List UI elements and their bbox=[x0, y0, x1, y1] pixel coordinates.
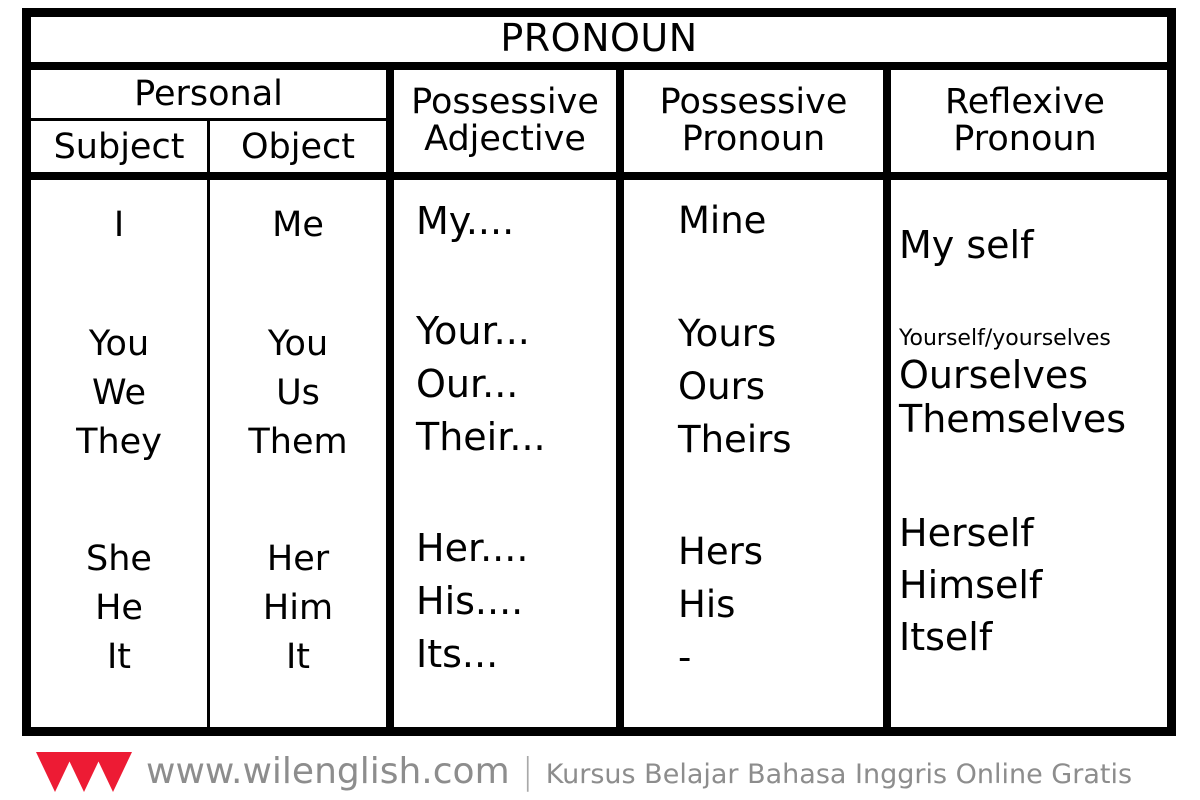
footer-site-url[interactable]: www.wilenglish.com bbox=[146, 754, 510, 790]
header-possessive-adjective-line2: Adjective bbox=[424, 121, 586, 158]
pronoun-table: PRONOUN Personal Subject Object bbox=[22, 8, 1176, 736]
cell-value: You bbox=[31, 327, 207, 362]
cell-value: His bbox=[678, 586, 883, 623]
footer-tagline: Kursus Belajar Bahasa Inggris Online Gra… bbox=[546, 761, 1132, 788]
cell-value: It bbox=[210, 640, 386, 675]
header-reflexive-pronoun-line2: Pronoun bbox=[953, 121, 1097, 158]
cell-value: Hers bbox=[678, 533, 883, 570]
footer-text: www.wilenglish.com | Kursus Belajar Baha… bbox=[146, 754, 1132, 790]
cell-value: Mine bbox=[678, 202, 883, 239]
cell-value: I bbox=[31, 208, 207, 243]
cell-value: You bbox=[210, 327, 386, 362]
header-personal: Personal bbox=[134, 74, 283, 114]
body-column-object: Me You Us Them Her Him It bbox=[207, 180, 386, 727]
cell-value: Themselves bbox=[899, 400, 1159, 438]
header-object-cell: Object bbox=[207, 121, 386, 172]
cell-value: Her bbox=[210, 542, 386, 577]
header-object: Object bbox=[241, 127, 355, 167]
header-reflexive-pronoun-cell: Reflexive Pronoun bbox=[883, 70, 1159, 172]
cell-value: - bbox=[678, 639, 883, 676]
header-possessive-pronoun-cell: Possessive Pronoun bbox=[616, 70, 883, 172]
body-column-subject: I You We They She He It bbox=[31, 180, 207, 727]
pronoun-chart-page: PRONOUN Personal Subject Object bbox=[0, 0, 1200, 800]
cell-value: Yourself/yourselves bbox=[899, 328, 1159, 350]
cell-value: Me bbox=[210, 208, 386, 243]
header-subject-cell: Subject bbox=[31, 121, 207, 172]
header-subject: Subject bbox=[54, 127, 185, 167]
wilenglish-logo-icon bbox=[36, 750, 132, 794]
cell-value: Our... bbox=[416, 365, 616, 403]
cell-value: Their... bbox=[416, 418, 616, 456]
header-possessive-adjective-line1: Possessive bbox=[411, 84, 599, 121]
cell-value: Ourselves bbox=[899, 356, 1159, 394]
header-possessive-pronoun-line2: Pronoun bbox=[682, 121, 826, 158]
body-column-possessive-pronoun: Mine Yours Ours Theirs Hers His - bbox=[616, 180, 883, 727]
body-column-reflexive-pronoun: My self Yourself/yourselves Ourselves Th… bbox=[883, 180, 1159, 727]
table-title-row: PRONOUN bbox=[31, 17, 1167, 70]
header-reflexive-pronoun-line1: Reflexive bbox=[945, 84, 1105, 121]
header-possessive-pronoun-line1: Possessive bbox=[660, 84, 848, 121]
cell-value: Them bbox=[210, 425, 386, 460]
cell-value: My self bbox=[899, 226, 1159, 264]
cell-value: Your... bbox=[416, 312, 616, 350]
header-personal-subcolumns: Subject Object bbox=[31, 121, 386, 172]
cell-value: Her.... bbox=[416, 529, 616, 567]
table-body-row: I You We They She He It bbox=[31, 180, 1167, 727]
cell-value: Its... bbox=[416, 635, 616, 673]
body-column-possessive-adjective: My.... Your... Our... Their... Her.... H… bbox=[386, 180, 616, 727]
cell-value: Theirs bbox=[678, 421, 883, 458]
header-personal-label-cell: Personal bbox=[31, 70, 386, 121]
header-possessive-adjective-cell: Possessive Adjective bbox=[386, 70, 616, 172]
cell-value: My.... bbox=[416, 202, 616, 240]
table-header-row: Personal Subject Object Possessive Adjec… bbox=[31, 70, 1167, 180]
cell-value: She bbox=[31, 542, 207, 577]
cell-value: Him bbox=[210, 591, 386, 626]
cell-value: Ours bbox=[678, 368, 883, 405]
header-group-personal: Personal Subject Object bbox=[31, 70, 386, 172]
cell-value: Us bbox=[210, 376, 386, 411]
cell-value: It bbox=[31, 640, 207, 675]
footer-separator: | bbox=[522, 754, 534, 790]
cell-value: Himself bbox=[899, 566, 1159, 604]
cell-value: They bbox=[31, 425, 207, 460]
cell-value: His.... bbox=[416, 582, 616, 620]
footer: www.wilenglish.com | Kursus Belajar Baha… bbox=[0, 744, 1200, 800]
cell-value: Herself bbox=[899, 514, 1159, 552]
cell-value: We bbox=[31, 376, 207, 411]
cell-value: He bbox=[31, 591, 207, 626]
cell-value: Itself bbox=[899, 618, 1159, 656]
cell-value: Yours bbox=[678, 315, 883, 352]
page-title: PRONOUN bbox=[500, 19, 697, 61]
